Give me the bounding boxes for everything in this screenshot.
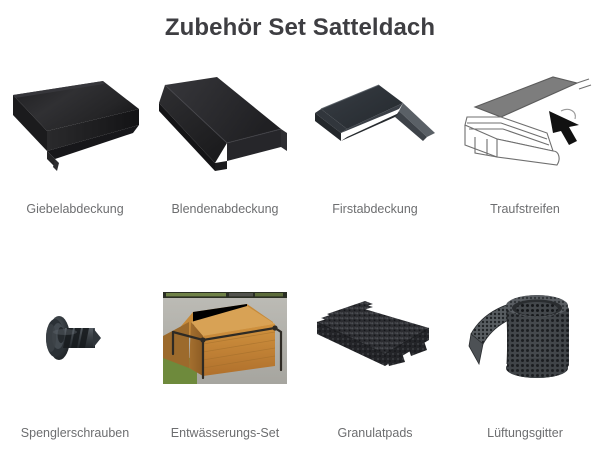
- roofing-screw-icon: [15, 288, 135, 388]
- product-label: Spenglerschrauben: [21, 426, 129, 440]
- product-item-giebelabdeckung[interactable]: Giebelabdeckung: [0, 64, 150, 224]
- product-image-entwaesserungs-set: [150, 280, 300, 396]
- shed-gutter-photo-icon: [163, 292, 287, 384]
- product-item-firstabdeckung[interactable]: Firstabdeckung: [300, 64, 450, 224]
- product-grid: Giebelabdeckung: [0, 64, 600, 440]
- product-item-blendenabdeckung[interactable]: Blendenabdeckung: [150, 64, 300, 224]
- accessory-set-page: Zubehör Set Satteldach: [0, 0, 600, 450]
- product-item-traufstreifen[interactable]: Traufstreifen: [450, 64, 600, 224]
- product-label: Traufstreifen: [490, 202, 560, 216]
- product-item-entwaesserungs-set[interactable]: Entwässerungs-Set: [150, 280, 300, 440]
- gable-flashing-profile-icon: [7, 67, 143, 177]
- product-image-giebelabdeckung: [0, 64, 150, 180]
- product-label: Firstabdeckung: [332, 202, 417, 216]
- product-row-1: Giebelabdeckung: [0, 64, 600, 224]
- fascia-cover-profile-icon: [157, 67, 293, 177]
- product-label: Giebelabdeckung: [26, 202, 123, 216]
- page-title: Zubehör Set Satteldach: [0, 14, 600, 42]
- product-item-granulatpads[interactable]: Granulatpads: [300, 280, 450, 440]
- product-label: Granulatpads: [337, 426, 412, 440]
- product-image-firstabdeckung: [300, 64, 450, 180]
- product-item-spenglerschrauben[interactable]: Spenglerschrauben: [0, 280, 150, 440]
- product-label: Blendenabdeckung: [171, 202, 278, 216]
- product-label: Entwässerungs-Set: [171, 426, 279, 440]
- granulate-pads-icon: [311, 292, 439, 384]
- product-image-spenglerschrauben: [0, 280, 150, 396]
- ridge-cap-profile-icon: [307, 67, 443, 177]
- product-item-lueftungsgitter[interactable]: Lüftungsgitter: [450, 280, 600, 440]
- product-label: Lüftungsgitter: [487, 426, 563, 440]
- ventilation-mesh-roll-icon: [465, 288, 585, 388]
- product-image-traufstreifen: [450, 64, 600, 180]
- product-image-blendenabdeckung: [150, 64, 300, 180]
- eaves-strip-diagram-icon: [457, 67, 593, 177]
- product-image-granulatpads: [300, 280, 450, 396]
- product-row-2: Spenglerschrauben: [0, 280, 600, 440]
- product-image-lueftungsgitter: [450, 280, 600, 396]
